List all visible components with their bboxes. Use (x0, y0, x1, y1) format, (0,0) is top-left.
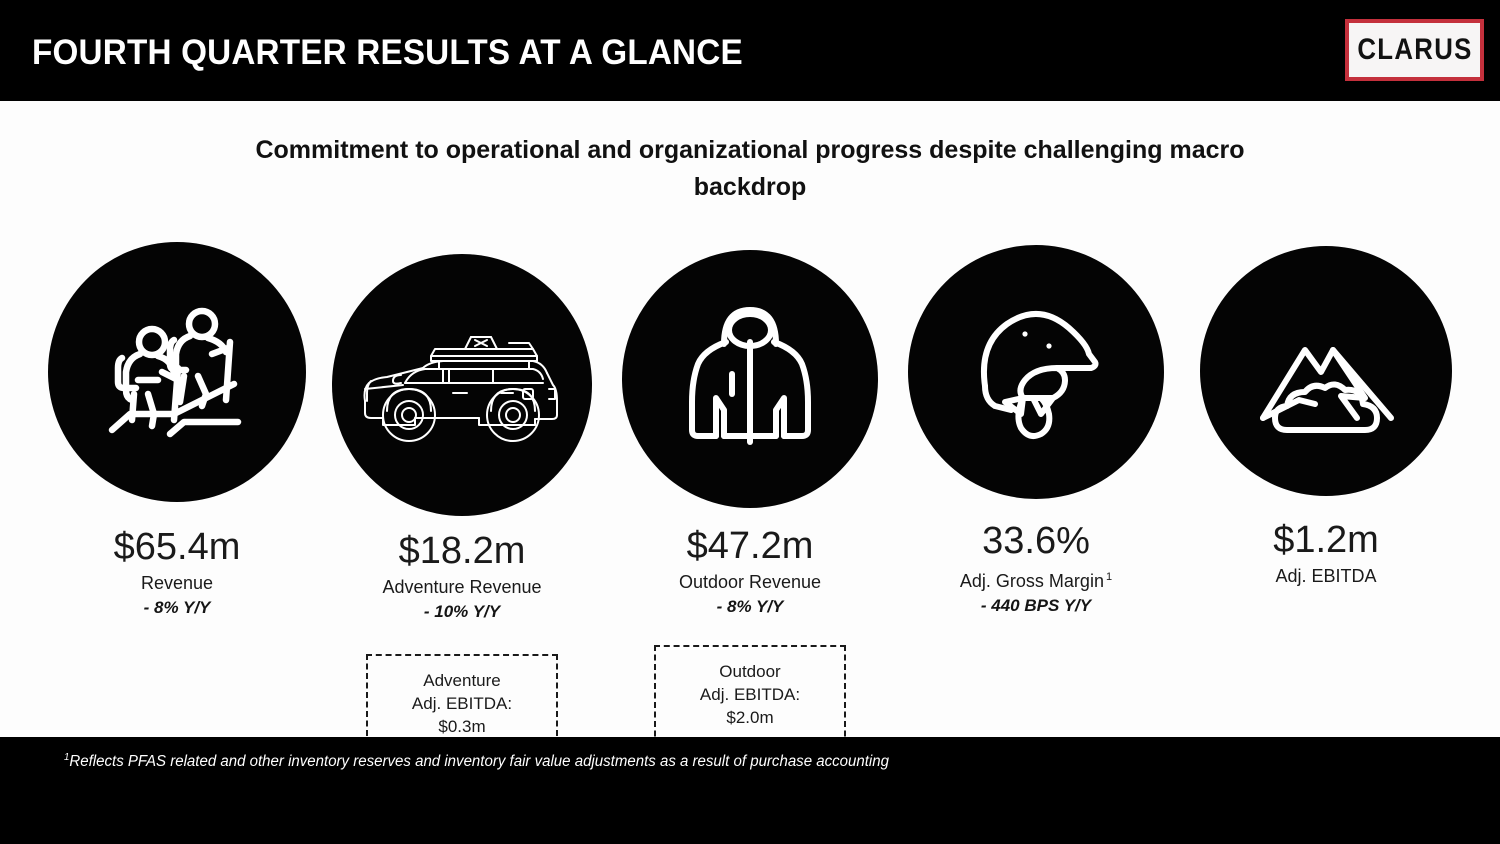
metric-value: $18.2m (332, 529, 592, 573)
logo-text: CLARUS (1357, 33, 1472, 67)
callout-line-2: Adj. EBITDA: (374, 692, 550, 715)
metric-value: $65.4m (48, 525, 306, 569)
footnote-text: Reflects PFAS related and other inventor… (69, 753, 889, 770)
metric-change: - 440 BPS Y/Y (908, 594, 1164, 617)
mountain-cloud-icon (1200, 246, 1452, 496)
clarus-logo: CLARUS (1345, 19, 1484, 81)
callout-line-3: $2.0m (662, 706, 838, 729)
metric-outdoor-revenue: $47.2m Outdoor Revenue - 8% Y/Y Outdoor … (622, 236, 878, 746)
slide: FOURTH QUARTER RESULTS AT A GLANCE CLARU… (0, 0, 1500, 844)
slide-subtitle: Commitment to operational and organizati… (200, 132, 1300, 206)
metric-label-text: Adj. Gross Margin (960, 571, 1104, 591)
metric-adj-ebitda: $1.2m Adj. EBITDA (1200, 236, 1452, 588)
metric-value: $47.2m (622, 524, 878, 568)
metric-value: 33.6% (908, 519, 1164, 563)
metric-change: - 10% Y/Y (332, 600, 592, 623)
callout-line-3: $0.3m (374, 715, 550, 738)
footnote-marker: 1 (1106, 571, 1112, 583)
metric-label: Adventure Revenue (332, 575, 592, 599)
metric-change: - 8% Y/Y (48, 596, 306, 619)
outdoor-ebitda-callout: Outdoor Adj. EBITDA: $2.0m (654, 645, 846, 746)
metric-revenue: $65.4m Revenue - 8% Y/Y (48, 236, 306, 619)
metric-label: Adj. Gross Margin1 (908, 565, 1164, 593)
metric-adj-gross-margin: 33.6% Adj. Gross Margin1 - 440 BPS Y/Y (908, 236, 1164, 617)
overland-suv-icon (332, 254, 592, 516)
page-title: FOURTH QUARTER RESULTS AT A GLANCE (32, 33, 743, 73)
callout-line-1: Adventure (374, 669, 550, 692)
metric-label: Revenue (48, 571, 306, 595)
hooded-jacket-icon (622, 250, 878, 508)
metric-adventure-revenue: $18.2m Adventure Revenue - 10% Y/Y Adven… (332, 236, 592, 755)
callout-line-1: Outdoor (662, 660, 838, 683)
metrics-row: $65.4m Revenue - 8% Y/Y (0, 236, 1500, 736)
hikers-icon (48, 242, 306, 502)
metric-change: - 8% Y/Y (622, 595, 878, 618)
climbing-helmet-icon (908, 245, 1164, 499)
footnote: 1Reflects PFAS related and other invento… (64, 752, 889, 771)
metric-label: Outdoor Revenue (622, 570, 878, 594)
callout-line-2: Adj. EBITDA: (662, 683, 838, 706)
metric-label: Adj. EBITDA (1200, 564, 1452, 588)
metric-value: $1.2m (1200, 518, 1452, 562)
